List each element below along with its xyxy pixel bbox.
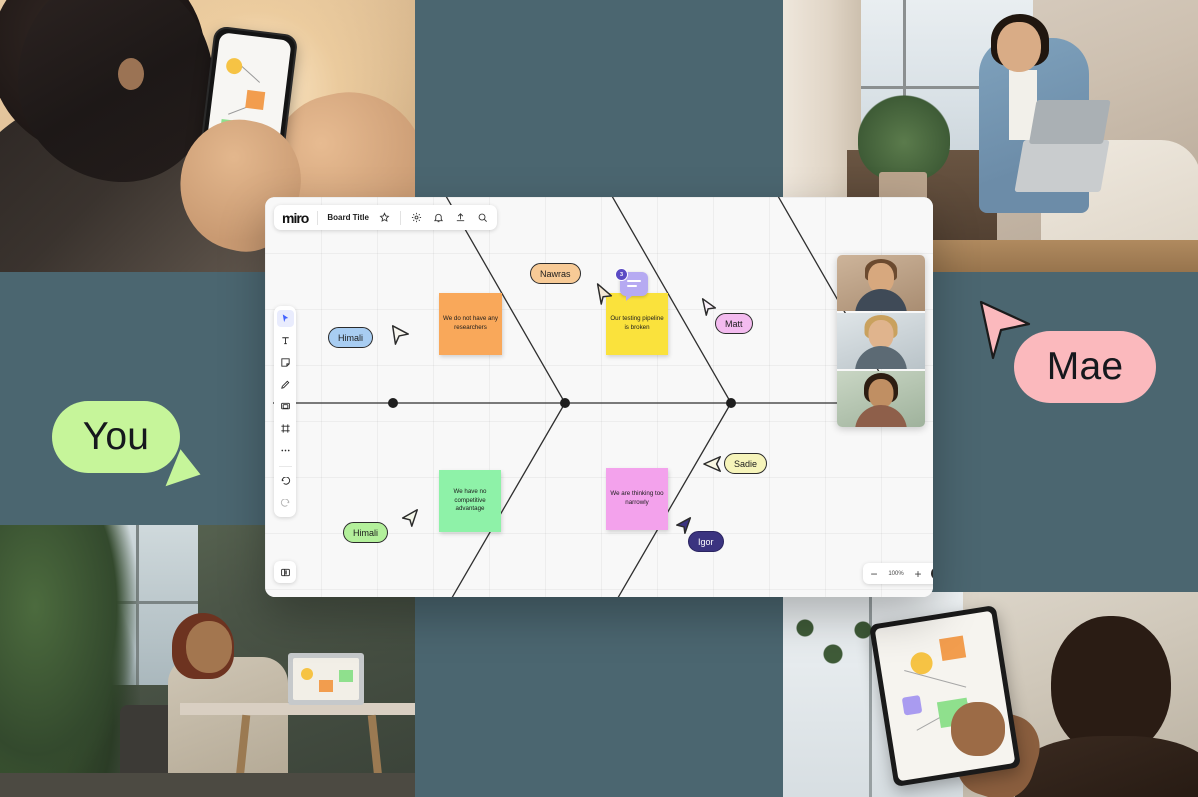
zoom-controls[interactable]: − 100% + bbox=[863, 563, 933, 584]
cursor-himali-blue-icon bbox=[389, 323, 411, 347]
cursor-label-sadie: Sadie bbox=[724, 453, 767, 474]
video-tile-1[interactable] bbox=[837, 255, 925, 311]
video-tile-3[interactable] bbox=[837, 371, 925, 427]
cursor-sadie-icon bbox=[702, 454, 724, 474]
photo-laptop bbox=[1014, 140, 1109, 192]
divider bbox=[317, 211, 318, 225]
cursor-label-you: You bbox=[52, 401, 180, 473]
cursor-label-nawras: Nawras bbox=[530, 263, 581, 284]
sticky-note-orange[interactable]: We do not have any researchers bbox=[439, 293, 502, 355]
comment-badge[interactable]: 3 bbox=[620, 272, 648, 296]
cursor-label-mae: Mae bbox=[1014, 331, 1156, 403]
photo-plant bbox=[858, 95, 950, 181]
sticky-tool[interactable] bbox=[277, 354, 294, 371]
sticky-note-green[interactable]: We have no competitive advantage bbox=[439, 470, 501, 532]
star-icon[interactable] bbox=[378, 211, 391, 224]
cursor-label-himali-blue: Himali bbox=[328, 327, 373, 348]
gear-icon[interactable] bbox=[410, 211, 423, 224]
divider bbox=[279, 466, 292, 467]
cursor-nawras-icon bbox=[593, 281, 615, 307]
miro-logo[interactable]: miro bbox=[282, 210, 308, 226]
board-tool-rail[interactable] bbox=[274, 306, 296, 517]
search-icon[interactable] bbox=[476, 211, 489, 224]
text-tool[interactable] bbox=[277, 332, 294, 349]
bell-icon[interactable] bbox=[432, 211, 445, 224]
comment-count: 3 bbox=[615, 268, 628, 281]
video-participant-list[interactable] bbox=[837, 255, 925, 427]
photo-woman-with-tablet bbox=[783, 592, 1198, 797]
sticky-note-yellow[interactable]: Our testing pipeline is broken bbox=[606, 293, 668, 355]
photo-person-hand bbox=[951, 702, 1005, 756]
zoom-out-button[interactable]: − bbox=[867, 567, 881, 581]
photo-person-head bbox=[997, 22, 1041, 72]
zoom-level-value[interactable]: 100% bbox=[887, 571, 905, 577]
photo-person-head bbox=[1051, 616, 1171, 756]
shape-tool[interactable] bbox=[277, 398, 294, 415]
panel-toggle-icon bbox=[280, 567, 291, 578]
cursor-himali-green-icon bbox=[399, 507, 420, 529]
photo-floor bbox=[0, 773, 415, 797]
panel-toggle-button[interactable] bbox=[274, 561, 296, 583]
undo-tool[interactable] bbox=[277, 474, 294, 491]
photo-person-head bbox=[186, 621, 232, 673]
redo-tool[interactable] bbox=[277, 496, 294, 513]
photo-person-body bbox=[1015, 736, 1198, 797]
board-title[interactable]: Board Title bbox=[327, 213, 369, 222]
photo-ear bbox=[118, 58, 144, 90]
select-tool[interactable] bbox=[277, 310, 294, 327]
miro-app-window: miro Board Title bbox=[265, 197, 933, 597]
divider bbox=[400, 211, 401, 225]
cursor-label-himali-green: Himali bbox=[343, 522, 388, 543]
sticky-note-pink[interactable]: We are thinking too narrowly bbox=[606, 468, 668, 530]
more-tools[interactable] bbox=[277, 442, 294, 459]
cursor-label-matt: Matt bbox=[715, 313, 753, 334]
fit-to-screen-icon[interactable] bbox=[931, 567, 933, 580]
board-top-toolbar[interactable]: miro Board Title bbox=[274, 205, 497, 230]
cursor-matt-icon bbox=[699, 296, 719, 318]
photo-laptop bbox=[288, 653, 364, 705]
pen-tool[interactable] bbox=[277, 376, 294, 393]
photo-tablet bbox=[869, 605, 1021, 787]
frame-tool[interactable] bbox=[277, 420, 294, 437]
video-tile-2[interactable] bbox=[837, 313, 925, 369]
zoom-in-button[interactable]: + bbox=[911, 567, 925, 581]
upload-icon[interactable] bbox=[454, 211, 467, 224]
cursor-label-igor: Igor bbox=[688, 531, 724, 552]
photo-plant bbox=[0, 525, 140, 797]
